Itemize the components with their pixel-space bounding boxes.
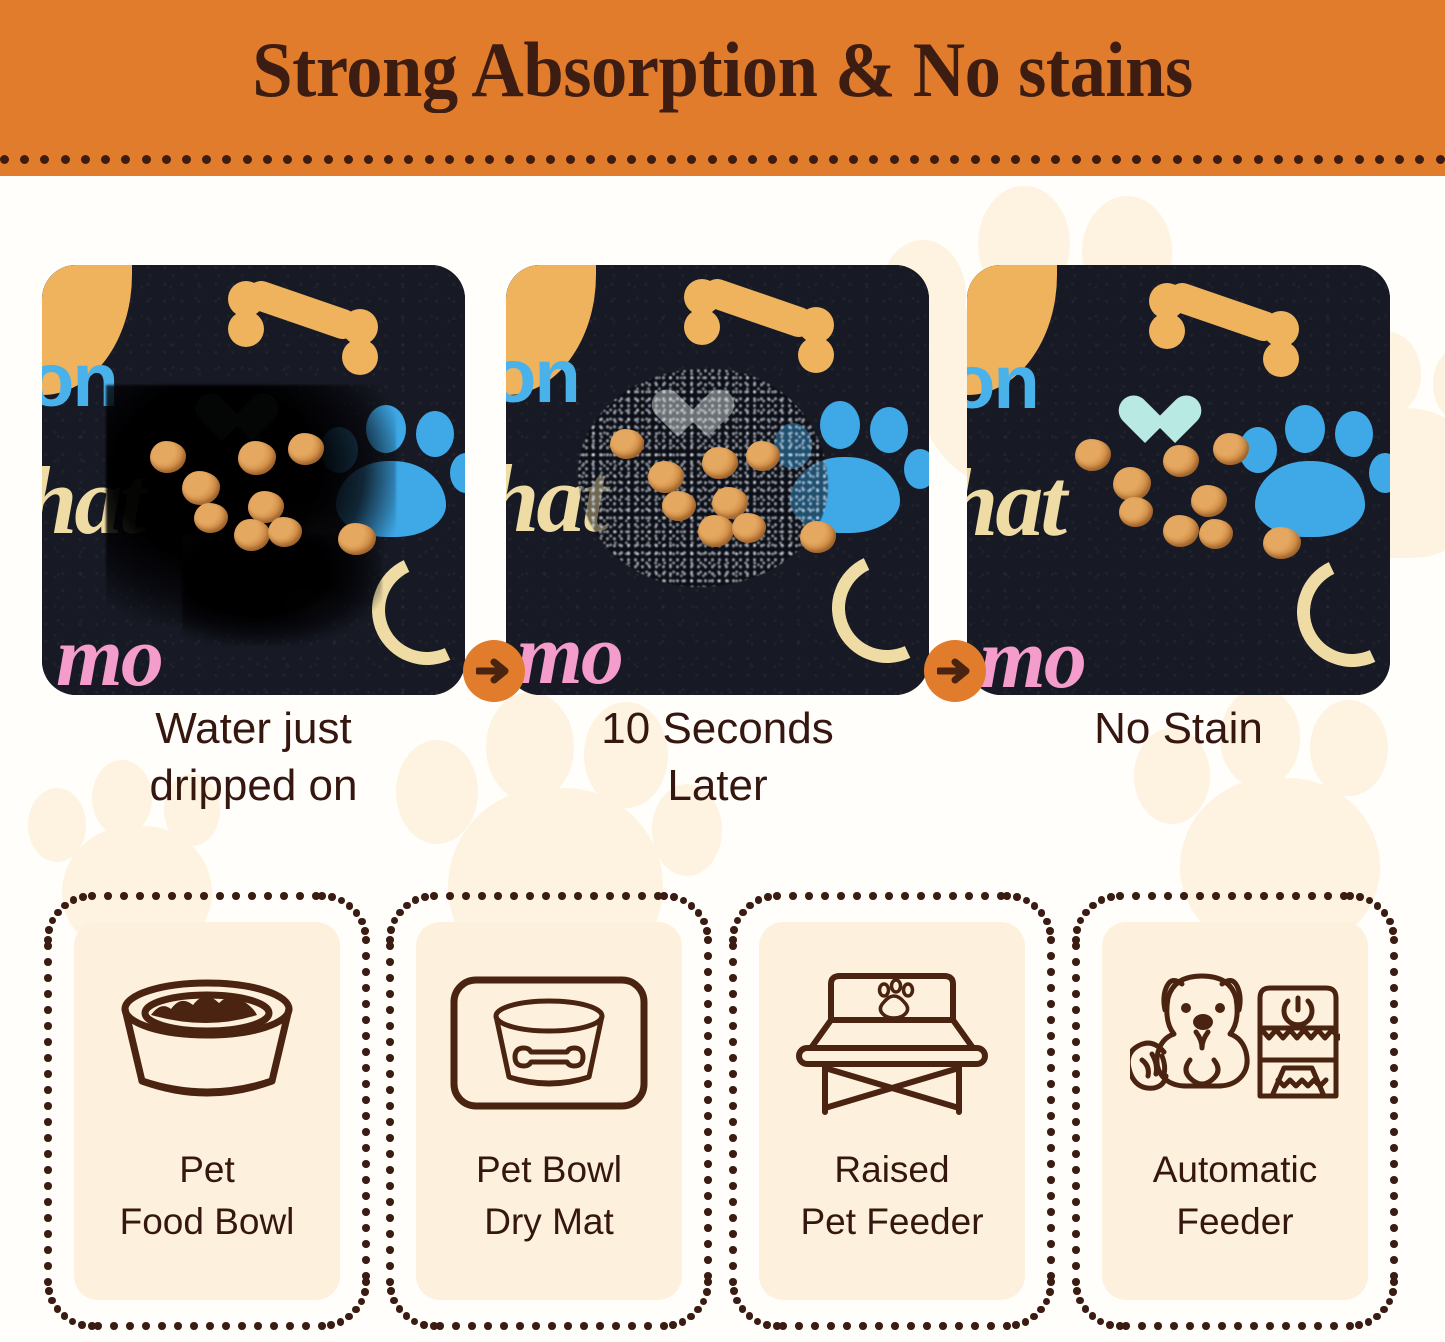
use-case-card-raised-pet-feeder: Raised Pet Feeder	[733, 896, 1051, 1326]
card-panel: Automatic Feeder	[1102, 922, 1368, 1300]
pet-mat-surface: on hat mo	[967, 265, 1390, 695]
mat-text-on: on	[967, 345, 1038, 421]
card-label: Raised Pet Feeder	[759, 1144, 1025, 1248]
arrow-right-icon	[463, 640, 525, 702]
mat-pawprint-graphic	[1239, 405, 1389, 545]
use-case-cards: Pet Food Bowl Pe	[0, 888, 1445, 1336]
demo-photo-step-1: on hat mo	[42, 265, 465, 695]
damp-absorbing-area	[578, 369, 828, 587]
dog-food-bowl-icon	[102, 968, 312, 1118]
demo-caption-step-1: Water just dripped on	[42, 700, 465, 814]
kibble-piece	[1075, 439, 1111, 471]
mat-swirl-graphic	[1282, 542, 1390, 683]
arrow-right-icon	[924, 640, 986, 702]
demo-caption-step-3: No Stain	[967, 700, 1390, 757]
demo-caption-step-2: 10 Seconds Later	[506, 700, 929, 814]
mat-text-mo: mo	[56, 613, 162, 695]
use-case-card-pet-food-bowl: Pet Food Bowl	[48, 896, 366, 1326]
kibble-piece	[1119, 497, 1153, 527]
mat-bone-graphic	[1143, 273, 1323, 359]
infographic-page: Strong Absorption & No stains on hat mo	[0, 0, 1445, 1342]
mat-bone-graphic	[222, 271, 402, 357]
mat-swirl-graphic	[817, 538, 929, 679]
mat-text-hat: hat	[967, 455, 1064, 551]
mat-bone-graphic	[678, 269, 858, 355]
kibble-piece	[1163, 445, 1199, 477]
card-panel: Pet Bowl Dry Mat	[416, 922, 682, 1300]
banner-dotted-divider	[0, 155, 1445, 167]
kibble-piece	[1263, 527, 1301, 559]
card-label: Automatic Feeder	[1102, 1144, 1368, 1248]
use-case-card-automatic-feeder: Automatic Feeder	[1076, 896, 1394, 1326]
kibble-piece	[1191, 485, 1227, 517]
kibble-piece	[1163, 515, 1199, 547]
automatic-feeder-dog-icon	[1130, 968, 1340, 1118]
card-panel: Raised Pet Feeder	[759, 922, 1025, 1300]
page-title: Strong Absorption & No stains	[51, 26, 1395, 114]
card-panel: Pet Food Bowl	[74, 922, 340, 1300]
demo-photo-step-3: on hat mo	[967, 265, 1390, 695]
mat-text-mo: mo	[979, 615, 1085, 695]
use-case-card-pet-bowl-dry-mat: Pet Bowl Dry Mat	[390, 896, 708, 1326]
raised-feeder-icon	[787, 968, 997, 1118]
card-label: Pet Bowl Dry Mat	[416, 1144, 682, 1248]
kibble-piece	[1113, 467, 1151, 501]
header-banner: Strong Absorption & No stains	[0, 0, 1445, 176]
mat-heart-graphic	[1145, 397, 1199, 445]
bowl-on-mat-icon	[444, 968, 654, 1118]
demo-photo-step-2: on hat mo	[506, 265, 929, 695]
mat-text-mo: mo	[516, 611, 622, 695]
pet-mat-surface: on hat mo	[506, 265, 929, 695]
absorption-demo-row: on hat mo	[0, 176, 1445, 704]
kibble-piece	[800, 521, 836, 553]
mat-text-on: on	[506, 339, 579, 415]
card-label: Pet Food Bowl	[74, 1144, 340, 1248]
kibble-piece	[1199, 519, 1233, 549]
pet-mat-surface: on hat mo	[42, 265, 465, 695]
